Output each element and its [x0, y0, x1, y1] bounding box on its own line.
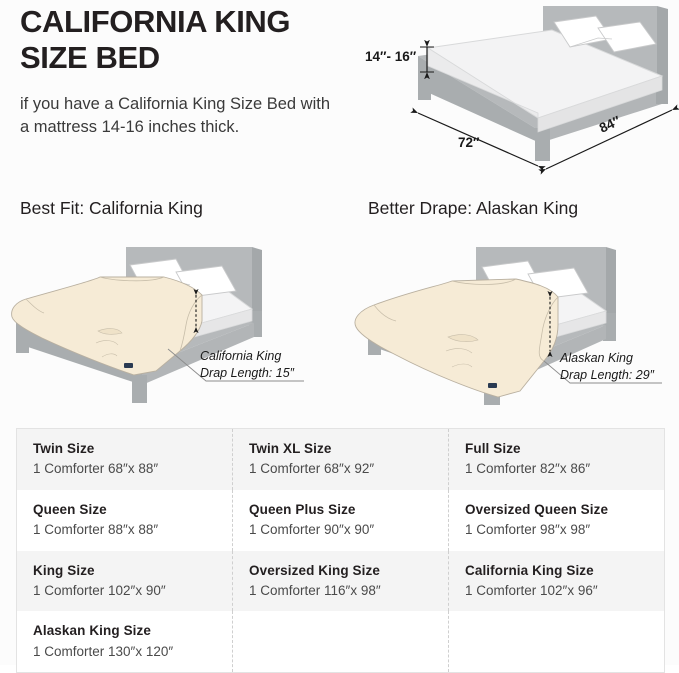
size-spec: 1 Comforter 98″x 98″: [465, 520, 664, 540]
size-spec: 1 Comforter 88″x 88″: [33, 520, 232, 540]
page-title-line-2: SIZE BED: [20, 40, 370, 76]
table-cell: Alaskan King Size 1 Comforter 130″x 120″: [17, 611, 233, 672]
comforter: [355, 279, 558, 397]
size-spec: 1 Comforter 102″x 90″: [33, 581, 232, 601]
size-spec: 1 Comforter 82″x 86″: [465, 459, 664, 479]
table-row: King Size 1 Comforter 102″x 90″ Oversize…: [17, 551, 665, 612]
page-subtitle: if you have a California King Size Bed w…: [20, 93, 340, 140]
page-title: CALIFORNIA KING SIZE BED: [20, 4, 370, 76]
size-spec: 1 Comforter 68″x 88″: [33, 459, 232, 479]
thickness-label: 14″- 16″: [365, 49, 417, 64]
size-name: California King Size: [465, 562, 664, 580]
size-name: Queen Plus Size: [249, 501, 448, 519]
table-cell: Queen Plus Size 1 Comforter 90″x 90″: [233, 490, 449, 551]
size-name: Queen Size: [33, 501, 232, 519]
size-name: Full Size: [465, 440, 664, 458]
table-row: Twin Size 1 Comforter 68″x 88″ Twin XL S…: [17, 429, 665, 490]
size-name: Oversized King Size: [249, 562, 448, 580]
size-name: King Size: [33, 562, 232, 580]
table-cell: Twin Size 1 Comforter 68″x 88″: [17, 429, 233, 490]
table-cell: Oversized King Size 1 Comforter 116″x 98…: [233, 551, 449, 612]
hero-bed-diagram: 14″- 16″ 72″ 84″: [350, 0, 679, 185]
callout-line-2: Drap Length: 29″: [560, 367, 654, 384]
table-row: Queen Size 1 Comforter 88″x 88″ Queen Pl…: [17, 490, 665, 551]
callout-line-2: Drap Length: 15″: [200, 365, 294, 382]
table-row: Alaskan King Size 1 Comforter 130″x 120″: [17, 611, 665, 672]
table-cell: Full Size 1 Comforter 82″x 86″: [449, 429, 665, 490]
page-title-line-1: CALIFORNIA KING: [20, 4, 370, 40]
table-cell: King Size 1 Comforter 102″x 90″: [17, 551, 233, 612]
size-name: Alaskan King Size: [33, 622, 232, 640]
callout-line-1: Alaskan King: [560, 350, 654, 367]
table-cell-empty: [449, 611, 665, 672]
callout-alaskan-king: Alaskan King Drap Length: 29″: [560, 350, 654, 384]
size-spec: 1 Comforter 102″x 96″: [465, 581, 664, 601]
table-cell-empty: [233, 611, 449, 672]
table-cell: Queen Size 1 Comforter 88″x 88″: [17, 490, 233, 551]
width-label: 72″: [458, 135, 480, 150]
size-name: Twin XL Size: [249, 440, 448, 458]
infographic-page: CALIFORNIA KING SIZE BED if you have a C…: [0, 0, 679, 665]
table-cell: Twin XL Size 1 Comforter 68″x 92″: [233, 429, 449, 490]
size-name: Oversized Queen Size: [465, 501, 664, 519]
size-spec: 1 Comforter 68″x 92″: [249, 459, 448, 479]
table-cell: California King Size 1 Comforter 102″x 9…: [449, 551, 665, 612]
section-title-best-fit: Best Fit: California King: [20, 198, 203, 219]
comforter-size-table: Twin Size 1 Comforter 68″x 88″ Twin XL S…: [16, 428, 665, 673]
table-cell: Oversized Queen Size 1 Comforter 98″x 98…: [449, 490, 665, 551]
size-spec: 1 Comforter 90″x 90″: [249, 520, 448, 540]
section-title-better-drape: Better Drape: Alaskan King: [368, 198, 578, 219]
size-spec: 1 Comforter 130″x 120″: [33, 642, 232, 662]
size-spec: 1 Comforter 116″x 98″: [249, 581, 448, 601]
callout-line-1: California King: [200, 348, 294, 365]
callout-california-king: California King Drap Length: 15″: [200, 348, 294, 382]
size-name: Twin Size: [33, 440, 232, 458]
